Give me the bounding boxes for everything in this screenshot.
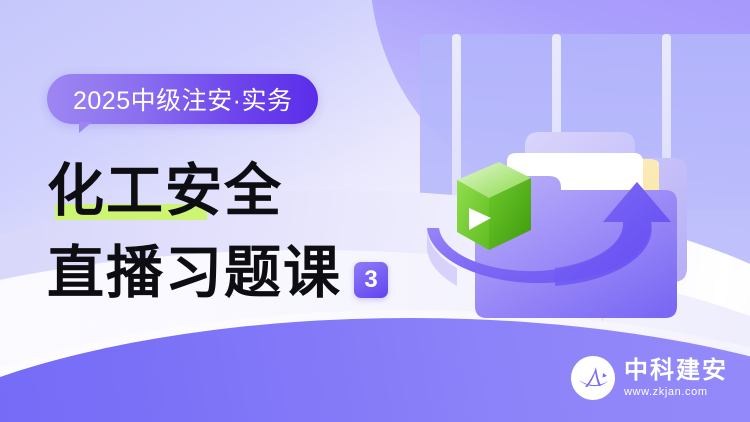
course-category-tag-label: 2025中级注安·实务 — [73, 81, 292, 117]
course-promo-banner: 2025中级注安·实务 化工安全 直播习题课 3 中科建安 www.zkjan.… — [0, 0, 750, 422]
brand-logo: 中科建安 www.zkjan.com — [571, 356, 728, 400]
zkjan-circle-logo-icon — [571, 356, 615, 400]
headline-line-2: 直播习题课 — [47, 240, 342, 306]
course-category-tag: 2025中级注安·实务 — [47, 74, 318, 124]
episode-number-badge: 3 — [354, 262, 388, 298]
brand-name: 中科建安 — [624, 358, 728, 384]
brand-text-block: 中科建安 www.zkjan.com — [624, 358, 728, 399]
headline-line-2-row: 直播习题课 3 — [47, 234, 467, 306]
headline-block: 化工安全 直播习题课 3 — [47, 152, 467, 306]
headline-line-1: 化工安全 — [47, 158, 283, 224]
headline-line-1-row: 化工安全 — [47, 152, 467, 224]
brand-url: www.zkjan.com — [624, 386, 728, 399]
